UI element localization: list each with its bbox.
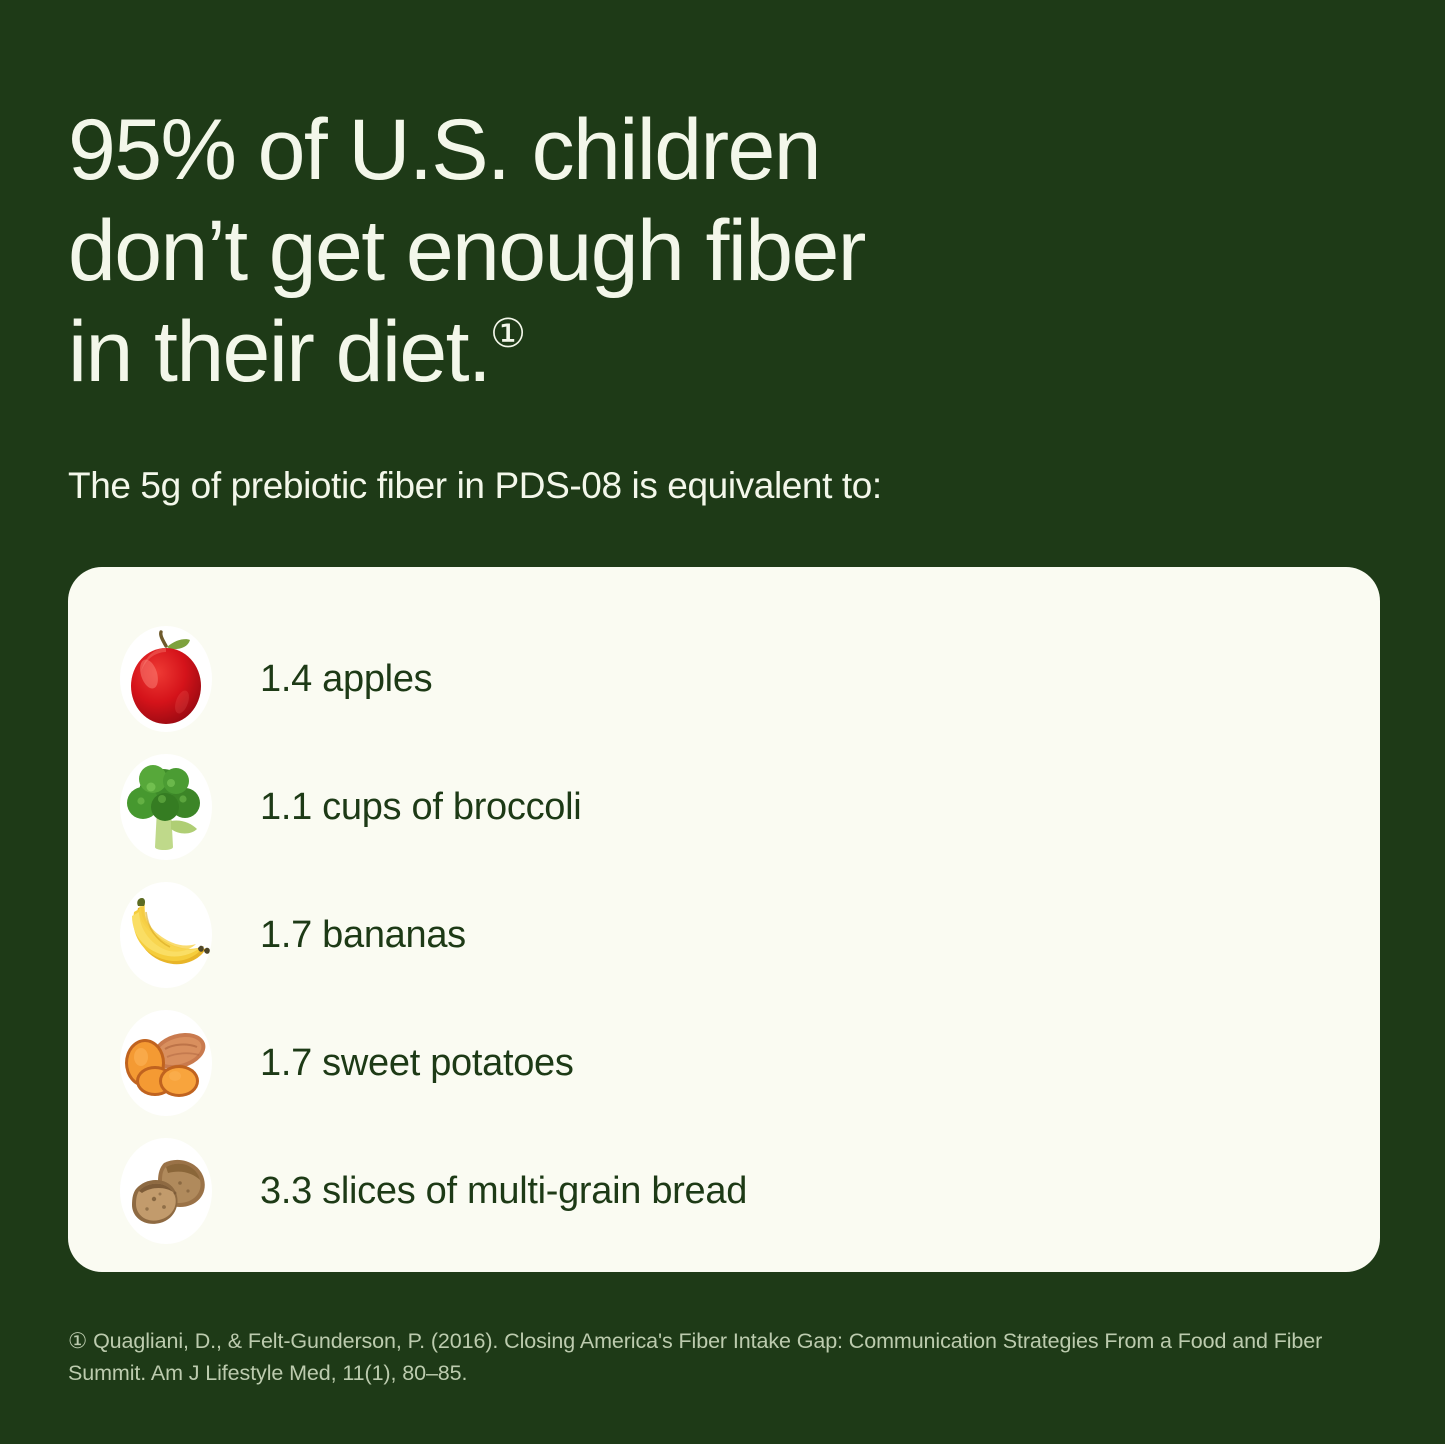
- equivalence-list: 1.4 apples: [68, 615, 1380, 1255]
- sweet-potato-icon: [118, 1008, 214, 1118]
- list-item-label: 1.4 apples: [260, 656, 432, 702]
- footnote-text: Quagliani, D., & Felt-Gunderson, P. (201…: [68, 1329, 1322, 1385]
- list-item: 1.1 cups of broccoli: [68, 743, 1380, 871]
- page-title: 95% of U.S. children don’t get enough fi…: [68, 100, 1118, 403]
- equivalence-card: 1.4 apples: [68, 567, 1380, 1272]
- list-item-label: 1.1 cups of broccoli: [260, 784, 581, 830]
- list-item: 3.3 slices of multi-grain bread: [68, 1127, 1380, 1255]
- subtitle: The 5g of prebiotic fiber in PDS-08 is e…: [68, 463, 882, 509]
- list-item: 1.7 sweet potatoes: [68, 999, 1380, 1127]
- broccoli-icon: [118, 752, 214, 862]
- headline-line-1: 95% of U.S. children: [68, 102, 820, 198]
- list-item: 1.4 apples: [68, 615, 1380, 743]
- apple-icon: [118, 624, 214, 734]
- list-item: 1.7 bananas: [68, 871, 1380, 999]
- bread-icon: [118, 1136, 214, 1246]
- list-item-label: 3.3 slices of multi-grain bread: [260, 1168, 747, 1214]
- headline-line-3: in their diet.: [68, 304, 490, 400]
- list-item-label: 1.7 sweet potatoes: [260, 1040, 574, 1086]
- footnote-citation: ① Quagliani, D., & Felt-Gunderson, P. (2…: [68, 1325, 1388, 1389]
- headline-line-2: don’t get enough fiber: [68, 203, 865, 299]
- list-item-label: 1.7 bananas: [260, 912, 466, 958]
- headline-footnote-marker-icon: ①: [490, 312, 526, 356]
- banana-icon: [118, 880, 214, 990]
- infographic-poster: 95% of U.S. children don’t get enough fi…: [0, 0, 1445, 1444]
- footnote-marker-icon: ①: [68, 1329, 87, 1353]
